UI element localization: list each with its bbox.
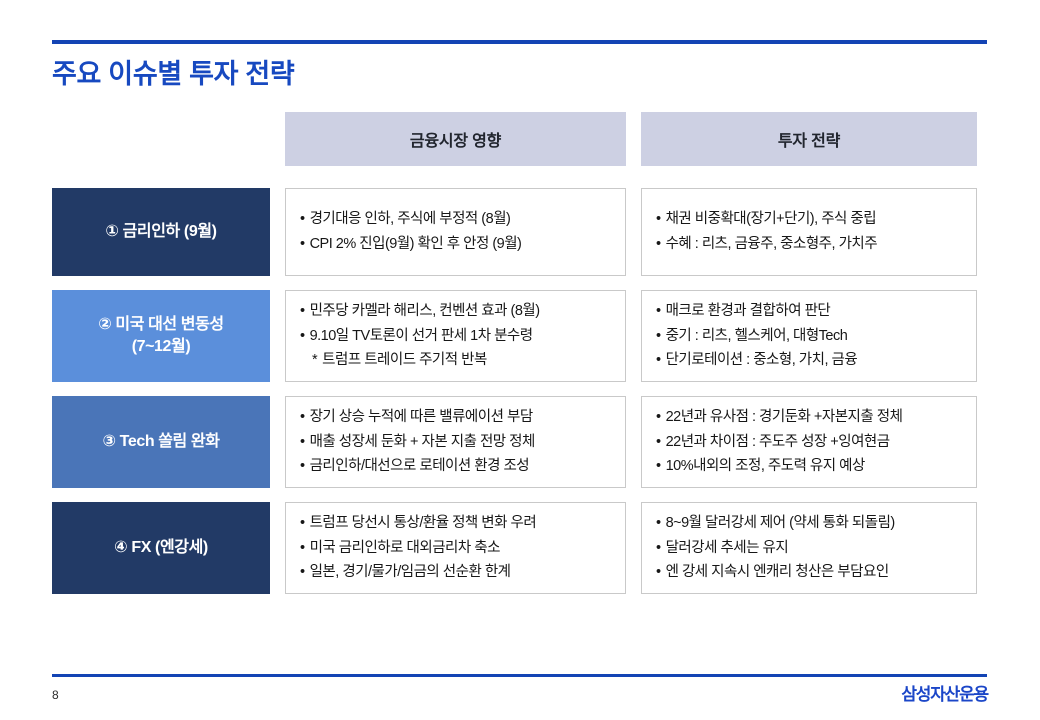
bullet-item: •중기 : 리츠, 헬스케어, 대형Tech bbox=[656, 327, 964, 346]
bullet-item: •CPI 2% 진입(9월) 확인 후 안정 (9월) bbox=[300, 235, 613, 254]
bullet-text: 22년과 유사점 : 경기둔화 +자본지출 정체 bbox=[666, 408, 903, 427]
bullet-dot-icon: • bbox=[300, 563, 305, 582]
row-label-1: ① 금리인하 (9월) bbox=[52, 188, 270, 276]
impact-cell: •장기 상승 누적에 따른 밸류에이션 부담•매출 성장세 둔화 + 자본 지출… bbox=[285, 396, 626, 488]
brand-logo: 삼성자산운용 bbox=[901, 680, 988, 705]
bullet-dot-icon: • bbox=[656, 408, 661, 427]
bullet-dot-icon: • bbox=[300, 235, 305, 254]
bullet-text: CPI 2% 진입(9월) 확인 후 안정 (9월) bbox=[310, 235, 522, 254]
row-label-2: ② 미국 대선 변동성(7~12월) bbox=[52, 290, 270, 382]
bullet-text: 수혜 : 리츠, 금융주, 중소형주, 가치주 bbox=[666, 235, 878, 254]
bullet-dot-icon: • bbox=[656, 457, 661, 476]
bullet-dot-icon: • bbox=[300, 457, 305, 476]
bullet-item: •금리인하/대선으로 로테이션 환경 조성 bbox=[300, 457, 613, 476]
bullet-item: •미국 금리인하로 대외금리차 축소 bbox=[300, 539, 613, 558]
asterisk-icon: * bbox=[312, 351, 317, 370]
bullet-text: 엔 강세 지속시 엔캐리 청산은 부담요인 bbox=[666, 563, 889, 582]
bullet-item: •경기대응 인하, 주식에 부정적 (8월) bbox=[300, 210, 613, 229]
table-row: ④ FX (엔강세)•트럼프 당선시 통상/환율 정책 변화 우려•미국 금리인… bbox=[52, 502, 987, 594]
bullet-item: •수혜 : 리츠, 금융주, 중소형주, 가치주 bbox=[656, 235, 964, 254]
impact-cell: •민주당 카멜라 해리스, 컨벤션 효과 (8월)•9.10일 TV토론이 선거… bbox=[285, 290, 626, 382]
header-cell-strategy: 투자 전략 bbox=[641, 112, 977, 166]
strategy-cell: •채권 비중확대(장기+단기), 주식 중립•수혜 : 리츠, 금융주, 중소형… bbox=[641, 188, 977, 276]
bullet-dot-icon: • bbox=[656, 327, 661, 346]
bullet-item: •장기 상승 누적에 따른 밸류에이션 부담 bbox=[300, 408, 613, 427]
bullet-item: •단기로테이션 : 중소형, 가치, 금융 bbox=[656, 351, 964, 370]
table-header-row: 금융시장 영향 투자 전략 bbox=[52, 112, 987, 166]
bullet-item: •엔 강세 지속시 엔캐리 청산은 부담요인 bbox=[656, 563, 964, 582]
bullet-text: 민주당 카멜라 해리스, 컨벤션 효과 (8월) bbox=[310, 302, 540, 321]
bullet-text: 단기로테이션 : 중소형, 가치, 금융 bbox=[666, 351, 858, 370]
row-label-text: ② 미국 대선 변동성(7~12월) bbox=[98, 314, 224, 358]
bullet-dot-icon: • bbox=[656, 235, 661, 254]
bullet-text: 매출 성장세 둔화 + 자본 지출 전망 정체 bbox=[310, 433, 535, 452]
bullet-text: 미국 금리인하로 대외금리차 축소 bbox=[310, 539, 500, 558]
strategy-cell: •22년과 유사점 : 경기둔화 +자본지출 정체•22년과 차이점 : 주도주… bbox=[641, 396, 977, 488]
row-label-line: (7~12월) bbox=[98, 336, 224, 358]
bullet-dot-icon: • bbox=[300, 210, 305, 229]
bullet-dot-icon: • bbox=[656, 539, 661, 558]
bullet-subnote: *트럼프 트레이드 주기적 반복 bbox=[300, 351, 613, 370]
bullet-dot-icon: • bbox=[300, 514, 305, 533]
bullet-dot-icon: • bbox=[656, 351, 661, 370]
bullet-item: •22년과 차이점 : 주도주 성장 +잉여현금 bbox=[656, 433, 964, 452]
row-label-3: ③ Tech 쏠림 완화 bbox=[52, 396, 270, 488]
bullet-text: 중기 : 리츠, 헬스케어, 대형Tech bbox=[666, 327, 848, 346]
bullet-text: 일본, 경기/물가/임금의 선순환 한계 bbox=[310, 563, 511, 582]
bullet-text: 8~9월 달러강세 제어 (약세 통화 되돌림) bbox=[666, 514, 895, 533]
row-label-line: ③ Tech 쏠림 완화 bbox=[102, 431, 219, 453]
table-row: ③ Tech 쏠림 완화•장기 상승 누적에 따른 밸류에이션 부담•매출 성장… bbox=[52, 396, 987, 488]
bullet-text: 트럼프 당선시 통상/환율 정책 변화 우려 bbox=[310, 514, 537, 533]
row-label-text: ① 금리인하 (9월) bbox=[105, 221, 216, 243]
bullet-dot-icon: • bbox=[656, 514, 661, 533]
row-label-4: ④ FX (엔강세) bbox=[52, 502, 270, 594]
bullet-text: 9.10일 TV토론이 선거 판세 1차 분수령 bbox=[310, 327, 533, 346]
bullet-text: 22년과 차이점 : 주도주 성장 +잉여현금 bbox=[666, 433, 890, 452]
impact-cell: •경기대응 인하, 주식에 부정적 (8월)•CPI 2% 진입(9월) 확인 … bbox=[285, 188, 626, 276]
page-title: 주요 이슈별 투자 전략 bbox=[52, 52, 294, 91]
bullet-item: •10%내외의 조정, 주도력 유지 예상 bbox=[656, 457, 964, 476]
bullet-item: •매크로 환경과 결합하여 판단 bbox=[656, 302, 964, 321]
row-label-text: ③ Tech 쏠림 완화 bbox=[102, 431, 219, 453]
bullet-item: •트럼프 당선시 통상/환율 정책 변화 우려 bbox=[300, 514, 613, 533]
bullet-dot-icon: • bbox=[300, 327, 305, 346]
bullet-item: •8~9월 달러강세 제어 (약세 통화 되돌림) bbox=[656, 514, 964, 533]
strategy-table: 금융시장 영향 투자 전략 ① 금리인하 (9월)•경기대응 인하, 주식에 부… bbox=[52, 112, 987, 608]
row-label-line: ④ FX (엔강세) bbox=[114, 537, 208, 559]
bullet-text: 장기 상승 누적에 따른 밸류에이션 부담 bbox=[310, 408, 533, 427]
table-body: ① 금리인하 (9월)•경기대응 인하, 주식에 부정적 (8월)•CPI 2%… bbox=[52, 188, 987, 594]
page-number: 8 bbox=[52, 688, 59, 702]
table-row: ① 금리인하 (9월)•경기대응 인하, 주식에 부정적 (8월)•CPI 2%… bbox=[52, 188, 987, 276]
bullet-text: 매크로 환경과 결합하여 판단 bbox=[666, 302, 831, 321]
bullet-dot-icon: • bbox=[300, 302, 305, 321]
bullet-item: •채권 비중확대(장기+단기), 주식 중립 bbox=[656, 210, 964, 229]
top-divider bbox=[52, 40, 987, 44]
bullet-text: 경기대응 인하, 주식에 부정적 (8월) bbox=[310, 210, 511, 229]
impact-cell: •트럼프 당선시 통상/환율 정책 변화 우려•미국 금리인하로 대외금리차 축… bbox=[285, 502, 626, 594]
bullet-dot-icon: • bbox=[300, 408, 305, 427]
bullet-item: •9.10일 TV토론이 선거 판세 1차 분수령 bbox=[300, 327, 613, 346]
bullet-item: •달러강세 추세는 유지 bbox=[656, 539, 964, 558]
table-row: ② 미국 대선 변동성(7~12월)•민주당 카멜라 해리스, 컨벤션 효과 (… bbox=[52, 290, 987, 382]
row-label-line: ② 미국 대선 변동성 bbox=[98, 314, 224, 336]
strategy-cell: •8~9월 달러강세 제어 (약세 통화 되돌림)•달러강세 추세는 유지•엔 … bbox=[641, 502, 977, 594]
strategy-cell: •매크로 환경과 결합하여 판단•중기 : 리츠, 헬스케어, 대형Tech•단… bbox=[641, 290, 977, 382]
bullet-dot-icon: • bbox=[656, 563, 661, 582]
bullet-dot-icon: • bbox=[656, 210, 661, 229]
bullet-dot-icon: • bbox=[300, 539, 305, 558]
bottom-divider bbox=[52, 674, 987, 677]
bullet-item: •매출 성장세 둔화 + 자본 지출 전망 정체 bbox=[300, 433, 613, 452]
header-cell-label-spacer bbox=[52, 112, 270, 166]
bullet-text: 트럼프 트레이드 주기적 반복 bbox=[322, 351, 487, 370]
row-label-line: ① 금리인하 (9월) bbox=[105, 221, 216, 243]
bullet-dot-icon: • bbox=[656, 433, 661, 452]
bullet-dot-icon: • bbox=[656, 302, 661, 321]
bullet-text: 금리인하/대선으로 로테이션 환경 조성 bbox=[310, 457, 530, 476]
bullet-item: •일본, 경기/물가/임금의 선순환 한계 bbox=[300, 563, 613, 582]
bullet-text: 채권 비중확대(장기+단기), 주식 중립 bbox=[666, 210, 877, 229]
bullet-item: •민주당 카멜라 해리스, 컨벤션 효과 (8월) bbox=[300, 302, 613, 321]
slide-canvas: 주요 이슈별 투자 전략 금융시장 영향 투자 전략 ① 금리인하 (9월)•경… bbox=[0, 0, 1040, 720]
header-cell-impact: 금융시장 영향 bbox=[285, 112, 626, 166]
row-label-text: ④ FX (엔강세) bbox=[114, 537, 208, 559]
bullet-item: •22년과 유사점 : 경기둔화 +자본지출 정체 bbox=[656, 408, 964, 427]
bullet-dot-icon: • bbox=[300, 433, 305, 452]
bullet-text: 10%내외의 조정, 주도력 유지 예상 bbox=[666, 457, 865, 476]
bullet-text: 달러강세 추세는 유지 bbox=[666, 539, 789, 558]
